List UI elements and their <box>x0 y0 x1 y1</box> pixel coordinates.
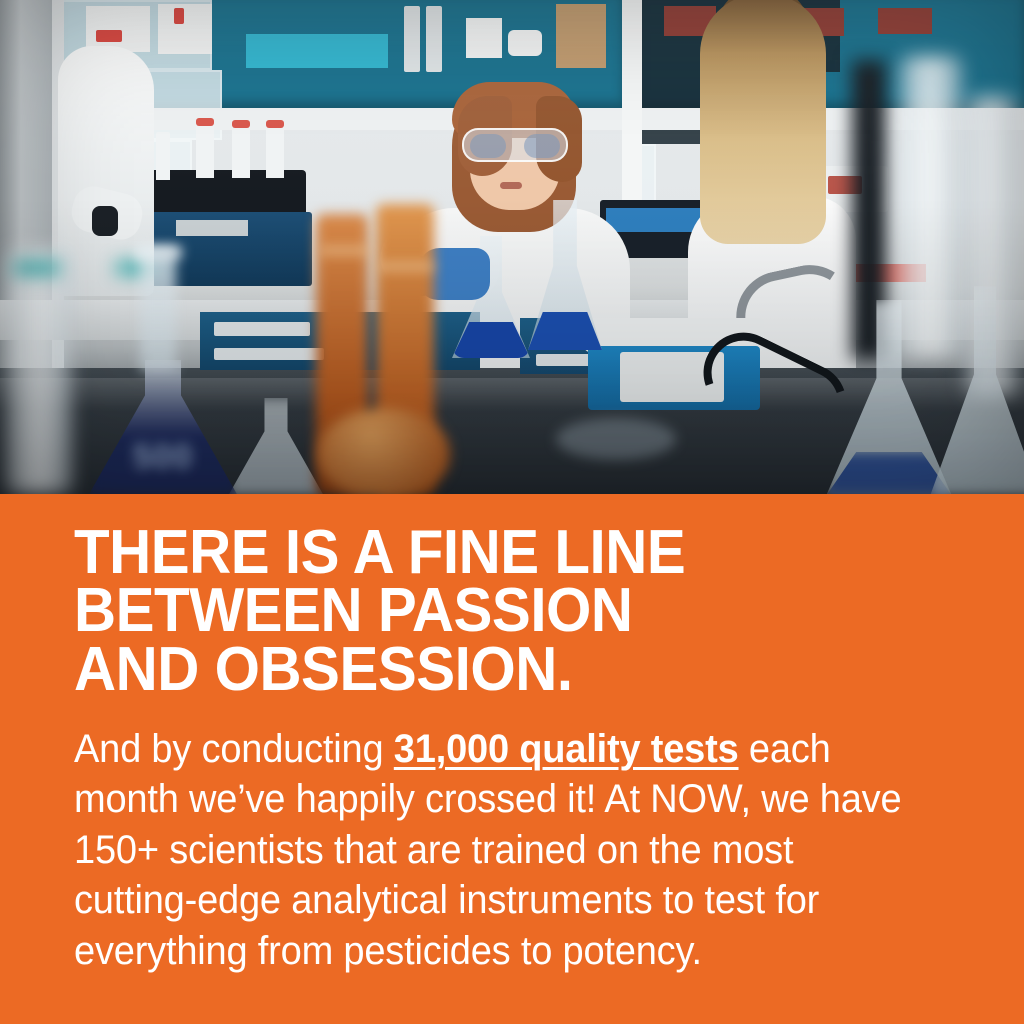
test-tube <box>266 122 284 178</box>
lab-photo: 500 <box>0 0 1024 494</box>
goggle-lens-right <box>524 134 560 158</box>
page-title: THERE IS A FINE LINE BETWEEN PASSION AND… <box>74 524 920 699</box>
headline-line-3: AND OBSESSION. <box>74 641 920 699</box>
scientist-blonde-hair <box>700 0 826 244</box>
goggle-lens-left <box>470 134 506 158</box>
shelf-tube <box>426 6 442 72</box>
body-text-run: And by conducting <box>74 727 394 771</box>
shelf-tube <box>404 6 420 72</box>
test-tube-cap <box>232 120 250 128</box>
cylinder-teal-marking <box>14 262 60 274</box>
headline-line-2: BETWEEN PASSION <box>74 582 920 640</box>
scientist-center-mouth <box>500 182 522 189</box>
shelf-box <box>158 4 212 54</box>
test-tube <box>196 120 214 178</box>
shelf-box <box>466 18 502 58</box>
body-paragraph: And by conducting 31,000 quality tests e… <box>74 724 910 976</box>
test-tube <box>156 132 170 180</box>
headline-line-1: THERE IS A FINE LINE <box>74 524 920 582</box>
flask-volume-label: 500 <box>108 438 218 477</box>
volumetric-flask-lip <box>134 246 182 258</box>
shelf-teal-tray <box>246 34 388 68</box>
social-card: 500 THERE IS A FINE LINE BETWEEN PASSION… <box>0 0 1024 1024</box>
test-tube-cap <box>196 118 214 126</box>
shelf-red-label <box>174 8 184 24</box>
shelf-red-box <box>878 8 932 34</box>
scientist-left-hand-object <box>92 206 118 236</box>
cabinet-label <box>214 348 324 360</box>
body-highlight-stat: 31,000 quality tests <box>394 727 739 771</box>
test-tube <box>232 122 250 178</box>
graduated-cylinder-right <box>900 56 962 356</box>
test-tube-cap <box>266 120 284 128</box>
amber-cylinder-ring <box>378 262 434 271</box>
cabinet-right <box>640 0 1024 108</box>
shelf-red-label <box>96 30 122 42</box>
watch-glass-dish <box>556 418 676 460</box>
graduated-cylinder-left <box>6 250 72 494</box>
shelf-cardboard-box <box>556 4 606 68</box>
amber-cylinder-ring <box>320 246 370 255</box>
safety-goggles-icon <box>462 128 568 162</box>
volumetric-flask-neck <box>140 248 176 372</box>
shelf-jar <box>508 30 542 56</box>
instrument-display-panel <box>176 220 248 236</box>
orange-text-panel: THERE IS A FINE LINE BETWEEN PASSION AND… <box>0 494 1024 1024</box>
cabinet-label <box>214 322 310 336</box>
amber-flask-bulb <box>318 408 450 494</box>
